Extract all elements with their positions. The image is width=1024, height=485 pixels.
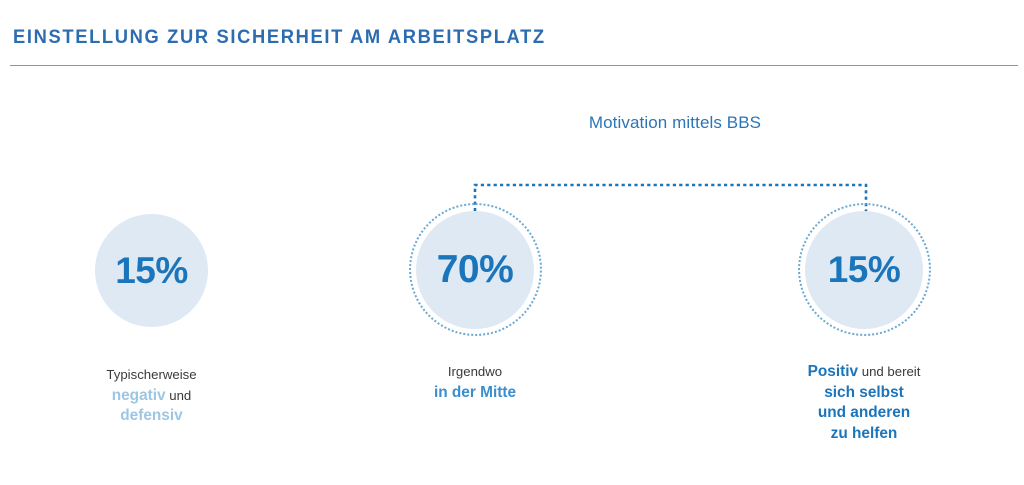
circle-middle: 70% [409,203,542,336]
caption-highlight: in der Mitte [434,384,516,401]
connector-label: Motivation mittels BBS [505,113,845,133]
caption-text: Typischerweise [106,367,196,382]
caption-highlight: defensiv [120,407,182,424]
percent-value-middle: 70% [409,203,542,336]
page-header: EINSTELLUNG ZUR SICHERHEIT AM ARBEITSPLA… [0,0,1024,66]
caption-highlight: und anderen [818,404,910,421]
percent-value-left: 15% [95,214,208,327]
caption-middle: Irgendwo in der Mitte [366,362,584,403]
percent-value-right: 15% [798,203,931,336]
caption-text: Irgendwo [448,364,502,379]
infographic-stage: Motivation mittels BBS 15% Typischerweis… [0,66,1024,485]
caption-highlight: Positiv [808,363,858,380]
caption-highlight: zu helfen [831,425,898,442]
segment-middle: 70% Irgendwo in der Mitte [366,203,584,403]
segment-left: 15% Typischerweise negativ und defensiv [39,214,264,427]
caption-text: und [169,388,191,403]
segment-right: 15% Positiv und bereit sich selbst und a… [755,203,973,444]
caption-left: Typischerweise negativ und defensiv [39,365,264,427]
circle-left: 15% [95,214,208,327]
caption-text: und bereit [862,364,921,379]
caption-right: Positiv und bereit sich selbst und ander… [755,362,973,444]
circle-right: 15% [798,203,931,336]
page-title: EINSTELLUNG ZUR SICHERHEIT AM ARBEITSPLA… [13,26,546,49]
caption-highlight: negativ [112,387,166,404]
caption-highlight: sich selbst [824,384,904,401]
